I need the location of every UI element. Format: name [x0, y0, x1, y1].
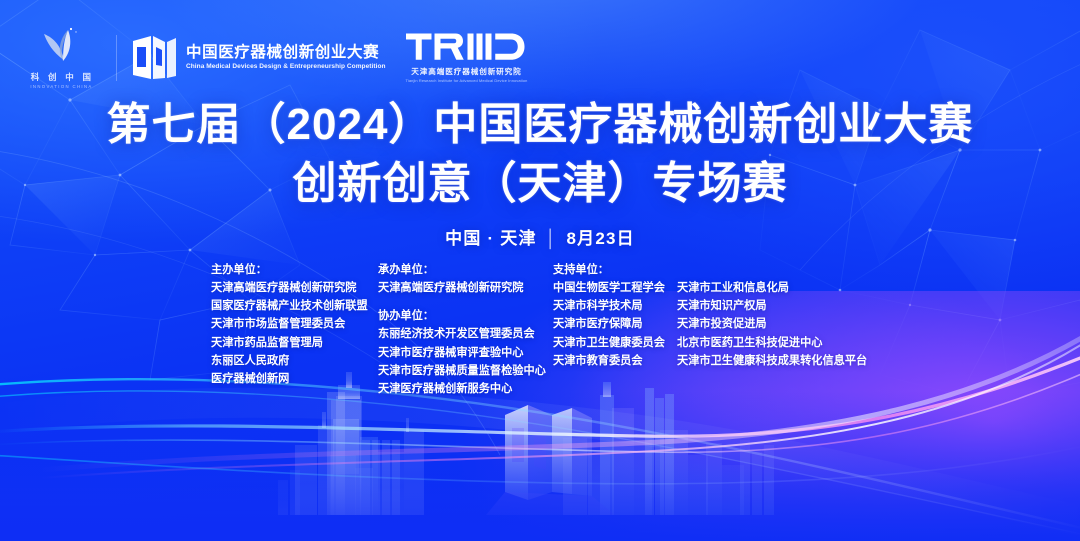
coorganizer-heading: 协办单位： [378, 307, 553, 325]
meta-separator: │ [546, 229, 558, 249]
supporter-subcolumn-a: 中国生物医学工程学会 天津市科学技术局 天津市医疗保障局 天津市卫生健康委员会 … [553, 279, 677, 370]
supporter-item: 天津市工业和信息化局 [677, 279, 869, 297]
innovation-china-en: INNOVATION CHINA [29, 84, 92, 89]
event-poster: 科 创 中 国 INNOVATION CHINA 中国医疗器械创新创业大赛 Ch… [0, 0, 1080, 541]
coorganizer-item: 天津市医疗器械质量监督检验中心 [378, 362, 553, 380]
innovation-china-cn: 科 创 中 国 [28, 71, 95, 83]
logo-competition: 中国医疗器械创新创业大赛 China Medical Devices Desig… [131, 34, 388, 82]
supporter-item: 北京市医药卫生科技促进中心 [677, 334, 869, 352]
supporter-item: 天津市教育委员会 [553, 352, 677, 370]
coorganizer-item: 天津市医疗器械审评查验中心 [378, 344, 553, 362]
logo-divider [116, 35, 117, 81]
supporter-item: 天津市投资促进局 [677, 315, 869, 333]
host-item: 天津市药品监督管理局 [211, 334, 378, 352]
coorganizer-item: 东丽经济技术开发区管理委员会 [378, 325, 553, 343]
supporter-heading: 支持单位： [553, 261, 869, 279]
supporter-item: 天津市卫生健康委员会 [553, 334, 677, 352]
title-line-2: 创新创意（天津）专场赛 [0, 162, 1080, 206]
competition-cn: 中国医疗器械创新创业大赛 [186, 45, 388, 62]
logo-innovation-china: 科 创 中 国 INNOVATION CHINA [26, 26, 96, 89]
supporter-item: 天津市科学技术局 [553, 297, 677, 315]
coorganizer-item: 天津医疗器械创新服务中心 [378, 380, 553, 398]
logo-bar: 科 创 中 国 INNOVATION CHINA 中国医疗器械创新创业大赛 Ch… [26, 26, 527, 89]
supporter-item: 天津市知识产权局 [677, 297, 869, 315]
undertaker-item: 天津高端医疗器械创新研究院 [378, 279, 553, 297]
host-column: 主办单位： 天津高端医疗器械创新研究院 国家医疗器械产业技术创新联盟 天津市市场… [211, 261, 378, 388]
undertaker-coorganizer-column: 承办单位： 天津高端医疗器械创新研究院 协办单位： 东丽经济技术开发区管理委员会… [378, 261, 553, 398]
poster-title: 第七届（2024）中国医疗器械创新创业大赛 创新创意（天津）专场赛 [0, 103, 1080, 206]
logo-institute: 天津高端医疗器械创新研究院 Tianjin Research Institute… [406, 32, 528, 83]
host-heading: 主办单位： [211, 261, 378, 279]
host-item: 东丽区人民政府 [211, 352, 378, 370]
host-item: 医疗器械创新网 [211, 370, 378, 388]
host-item: 国家医疗器械产业技术创新联盟 [211, 297, 378, 315]
host-item: 天津高端医疗器械创新研究院 [211, 279, 378, 297]
organizer-columns: 主办单位： 天津高端医疗器械创新研究院 国家医疗器械产业技术创新联盟 天津市市场… [0, 261, 1080, 398]
title-line-1: 第七届（2024）中国医疗器械创新创业大赛 [0, 103, 1080, 147]
institute-cn: 天津高端医疗器械创新研究院 [411, 66, 521, 77]
supporter-item: 天津市医疗保障局 [553, 315, 677, 333]
supporter-item: 天津市卫生健康科技成果转化信息平台 [677, 352, 869, 370]
location-date-bar: 中国 · 天津│8月23日 [0, 224, 1080, 249]
open-door-book-mark-icon [131, 34, 177, 82]
supporter-column: 支持单位： 中国生物医学工程学会 天津市科学技术局 天津市医疗保障局 天津市卫生… [553, 261, 869, 370]
triid-wordmark-icon [406, 32, 526, 62]
location-text: 中国 · 天津 [445, 229, 537, 248]
bird-wing-mark-icon [38, 26, 84, 66]
supporter-grid: 中国生物医学工程学会 天津市科学技术局 天津市医疗保障局 天津市卫生健康委员会 … [553, 279, 869, 370]
date-text: 8月23日 [566, 229, 634, 248]
competition-en: China Medical Devices Design & Entrepren… [186, 63, 386, 70]
supporter-item: 中国生物医学工程学会 [553, 279, 677, 297]
column-spacer [378, 297, 553, 307]
host-item: 天津市市场监督管理委员会 [211, 315, 378, 333]
supporter-subcolumn-b: 天津市工业和信息化局 天津市知识产权局 天津市投资促进局 北京市医药卫生科技促进… [677, 279, 869, 370]
institute-en: Tianjin Research Institute for Advanced … [406, 78, 528, 83]
undertaker-heading: 承办单位： [378, 261, 553, 279]
